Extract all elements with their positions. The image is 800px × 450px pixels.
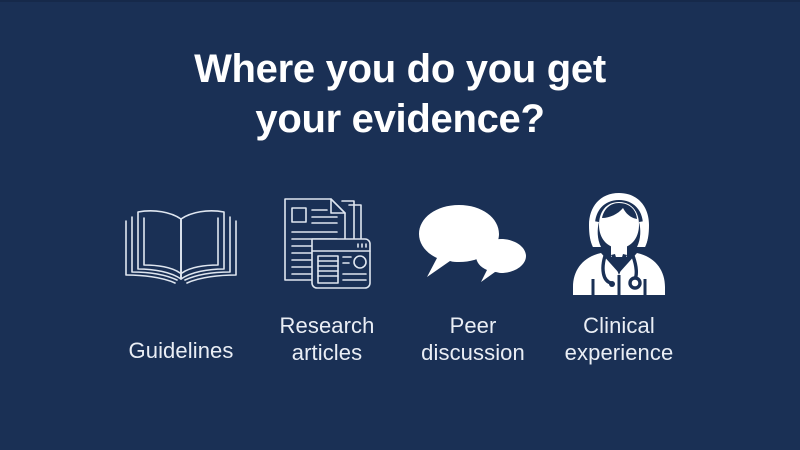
label-line-1: Clinical xyxy=(583,313,655,338)
evidence-item-label: Clinical experience xyxy=(565,312,674,366)
evidence-item-research-articles[interactable]: Research articles xyxy=(265,188,389,366)
page-title: Where you do you get your evidence? xyxy=(0,44,800,144)
title-line-1: Where you do you get xyxy=(60,44,740,94)
title-line-2: your evidence? xyxy=(60,94,740,144)
clinician-icon xyxy=(557,188,681,300)
evidence-item-guidelines[interactable]: Guidelines xyxy=(119,188,243,364)
evidence-source-list: Guidelines xyxy=(0,188,800,366)
evidence-item-label: Guidelines xyxy=(129,337,234,364)
open-book-icon xyxy=(119,188,243,300)
evidence-item-label: Research articles xyxy=(280,312,375,366)
label-line-2: discussion xyxy=(421,339,525,366)
top-edge-divider xyxy=(0,0,800,2)
label-line-1: Guidelines xyxy=(129,338,234,363)
label-line-2: experience xyxy=(565,339,674,366)
label-line-1: Research xyxy=(280,313,375,338)
label-line-2: articles xyxy=(280,339,375,366)
evidence-item-label: Peer discussion xyxy=(421,312,525,366)
label-line-1: Peer xyxy=(450,313,497,338)
evidence-item-peer-discussion[interactable]: Peer discussion xyxy=(411,188,535,366)
slide-canvas: Where you do you get your evidence? xyxy=(0,0,800,450)
research-documents-icon xyxy=(265,188,389,300)
evidence-item-clinical-experience[interactable]: Clinical experience xyxy=(557,188,681,366)
speech-bubbles-icon xyxy=(411,188,535,300)
